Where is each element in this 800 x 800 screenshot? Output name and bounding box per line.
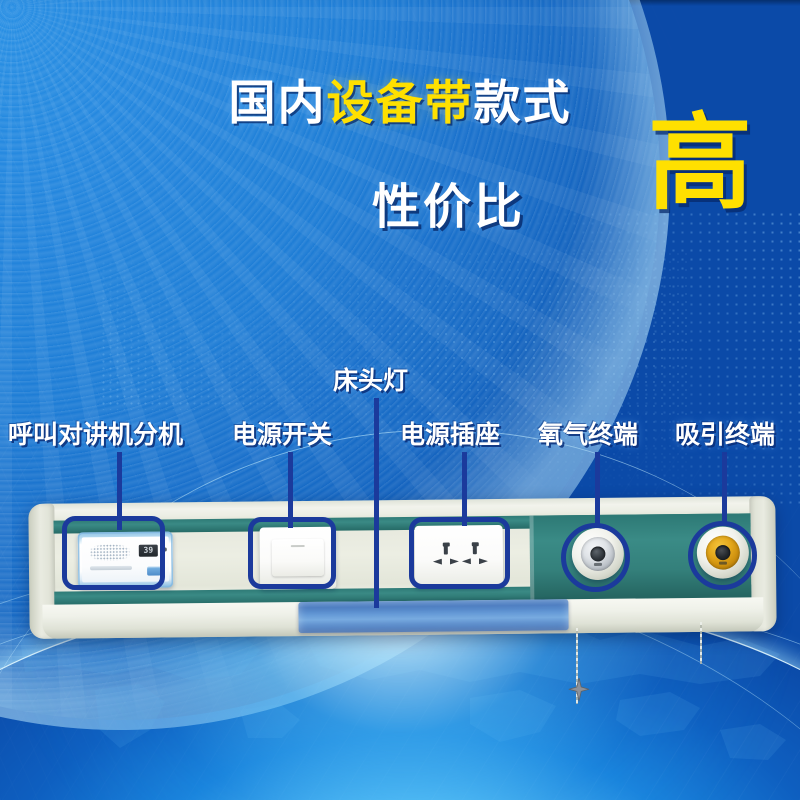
callout-label-power-socket: 电源插座 [400,415,500,451]
annotation-circle-oxygen [561,523,630,592]
callout-label-power-switch: 电源开关 [232,415,332,451]
annotation-rect-intercom [62,516,165,590]
annotation-rect-power-socket [409,517,510,589]
callout-label-intercom: 呼叫对讲机分机 [8,415,183,451]
banner-stage: 国内设备带款式 性价比 高 呼叫对讲机分机 电源开关 床头灯 电源插座 氧气终端… [0,0,800,800]
annotation-rect-power-switch [248,517,336,589]
annotation-circle-suction [688,521,757,590]
callout-label-suction: 吸引终端 [675,415,775,451]
callout-label-group: 呼叫对讲机分机 电源开关 床头灯 电源插座 氧气终端 吸引终端 [0,0,800,800]
callout-label-bed-lamp: 床头灯 [333,361,408,397]
callout-label-oxygen: 氧气终端 [538,415,638,451]
